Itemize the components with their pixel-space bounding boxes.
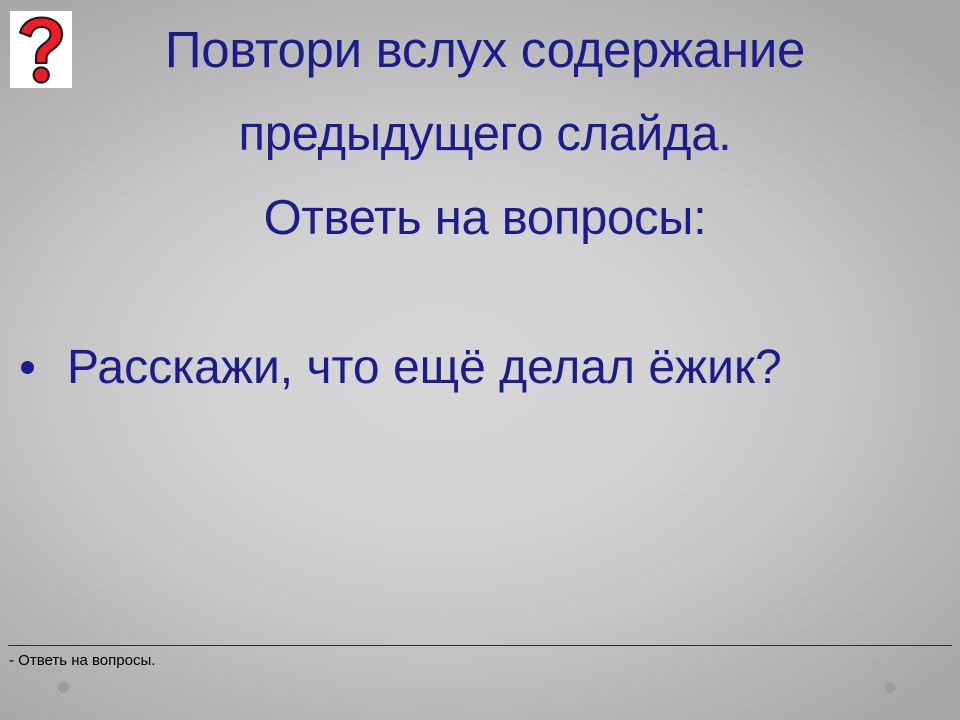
- title-line-1: Повтори вслух содержание: [60, 8, 910, 92]
- bullet-item-text: Расскажи, что ещё делал ёжик?: [34, 336, 952, 400]
- title-line-3: Ответь на вопросы:: [60, 176, 910, 260]
- footer-divider: [8, 645, 952, 646]
- list-item: Расскажи, что ещё делал ёжик?: [8, 336, 952, 400]
- bullet-list: Расскажи, что ещё делал ёжик?: [8, 336, 952, 400]
- slide-canvas: Повтори вслух содержание предыдущего сла…: [0, 0, 960, 720]
- decorative-dot-right: [885, 682, 896, 693]
- page-title: Повтори вслух содержание предыдущего сла…: [60, 8, 910, 260]
- bullet-dot-icon: [21, 361, 34, 374]
- decorative-dot-left: [58, 682, 69, 693]
- title-line-2: предыдущего слайда.: [60, 92, 910, 176]
- footer-note: - Ответь на вопросы.: [9, 652, 155, 669]
